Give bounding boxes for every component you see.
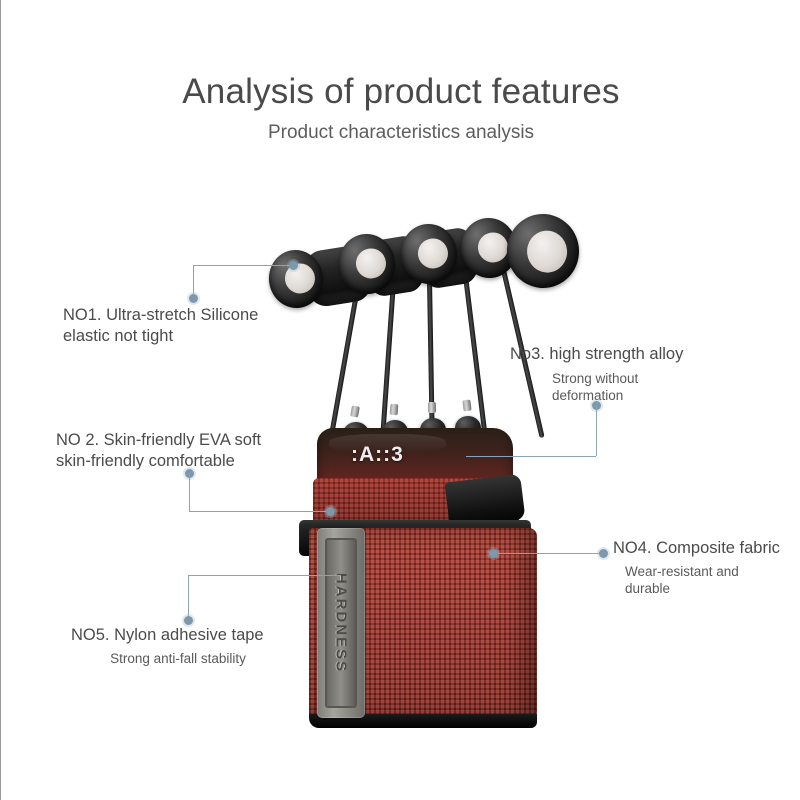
thumb-ring (503, 210, 582, 291)
callout-no4-subtext: Wear-resistant and durable (625, 563, 798, 597)
anchor-dot-no1 (289, 261, 298, 270)
page-subtitle: Product characteristics analysis (1, 122, 800, 144)
cord-ferrule (350, 405, 360, 417)
callout-no3-subtext: Strong without deformation (552, 370, 750, 404)
leader-line-no3 (596, 405, 597, 456)
callout-no4: NO4. Composite fabric Wear-resistant and… (613, 538, 798, 597)
callout-no5: NO5. Nylon adhesive tape Strong anti-fal… (71, 625, 311, 667)
page-title: Analysis of product features (1, 72, 800, 112)
leader-line-no1 (193, 265, 297, 266)
infographic-canvas: Analysis of product features Product cha… (0, 0, 800, 800)
callout-no1: NO1. Ultra-stretch Silicone elastic not … (63, 305, 313, 347)
callout-no2: NO 2. Skin-friendly EVA soft skin-friend… (56, 430, 316, 472)
callout-no4-headline: NO4. Composite fabric (613, 538, 798, 559)
silicone-stem (380, 282, 396, 442)
leader-line-no5 (188, 575, 189, 620)
anchor-dot-no2 (326, 507, 335, 516)
leader-line-no5 (188, 575, 341, 576)
leader-dot-no4 (599, 549, 608, 558)
leader-line-no2 (189, 511, 330, 512)
callout-no3-headline: No3. high strength alloy (510, 344, 750, 365)
leader-line-no2 (189, 473, 190, 511)
leader-line-no3 (466, 456, 596, 457)
cord-ferrule (390, 404, 399, 416)
callout-no5-headline: NO5. Nylon adhesive tape (71, 625, 311, 646)
anchor-dot-no4 (489, 549, 498, 558)
callout-no3: No3. high strength alloy Strong without … (510, 344, 750, 404)
cord-ferrule (428, 402, 436, 413)
leader-dot-no1 (189, 294, 198, 303)
leader-dot-no5 (184, 616, 193, 625)
callout-no1-headline: NO1. Ultra-stretch Silicone elastic not … (63, 305, 313, 347)
callout-no2-headline: NO 2. Skin-friendly EVA soft skin-friend… (56, 430, 316, 472)
hardness-buckle: HARDNESS (317, 528, 365, 718)
leader-line-no4 (493, 553, 603, 554)
callout-no5-subtext: Strong anti-fall stability (71, 650, 311, 667)
cord-ferrule (462, 400, 471, 412)
brand-text: HARDNESS (333, 573, 350, 673)
